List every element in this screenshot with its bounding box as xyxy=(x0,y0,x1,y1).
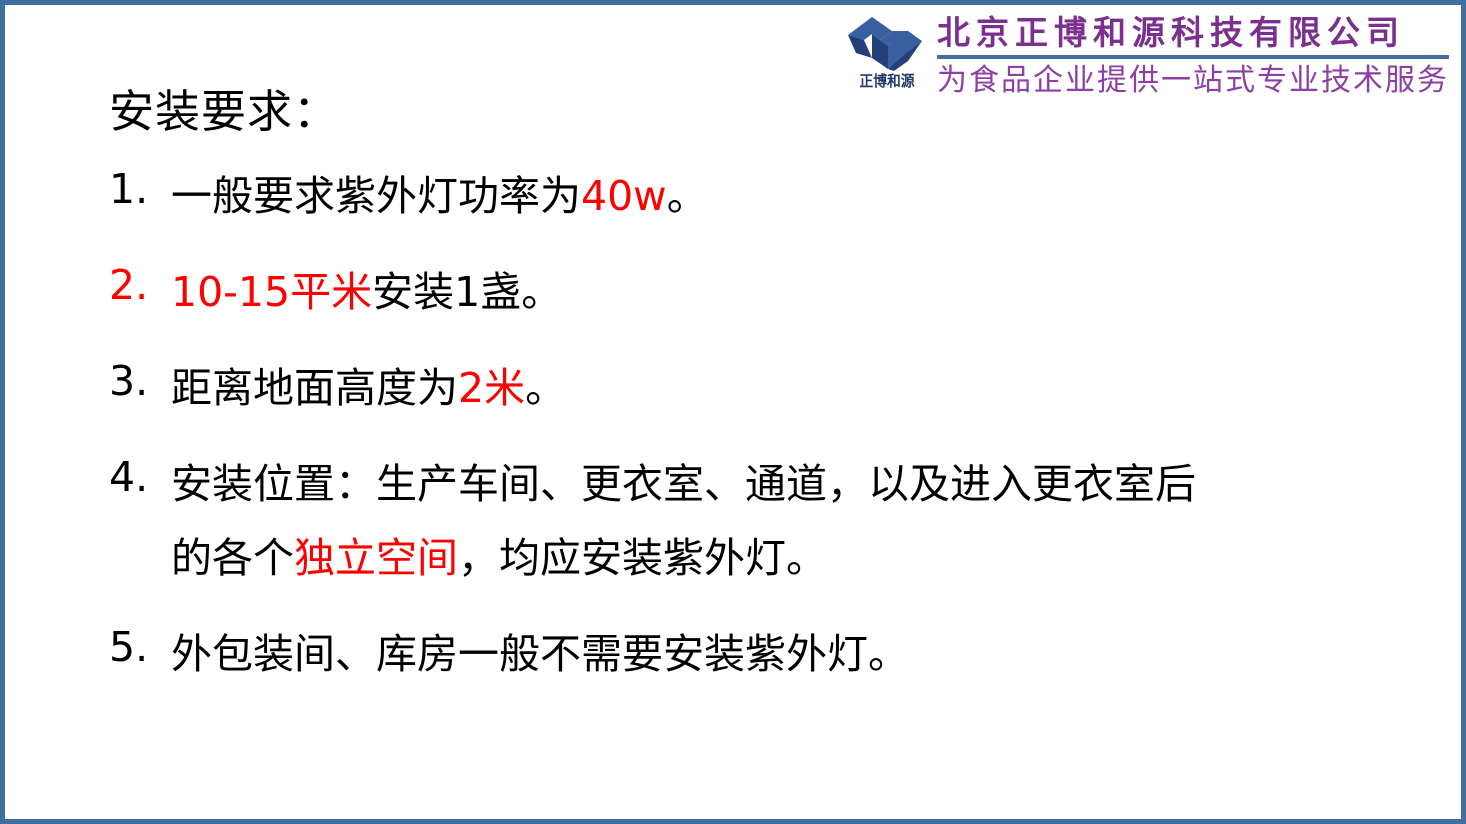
list-item-text: 一般要求紫外灯功率为40w。 xyxy=(171,159,1439,233)
slide-content: 安装要求： 1.一般要求紫外灯功率为40w。2.10-15平米安装1盏。3.距离… xyxy=(109,81,1439,713)
list-item-text: 10-15平米安装1盏。 xyxy=(171,255,1439,329)
list-item-line: 的各个独立空间，均应安装紫外灯。 xyxy=(171,521,1439,595)
list-item-number: 3. xyxy=(109,351,171,411)
list-item: 4.安装位置：生产车间、更衣室、通道，以及进入更衣室后的各个独立空间，均应安装紫… xyxy=(109,447,1439,595)
company-name: 北京正博和源科技有限公司 xyxy=(937,13,1449,53)
list-item-number: 5. xyxy=(109,617,171,677)
company-logo: 正博和源 xyxy=(841,9,933,89)
list-item: 3.距离地面高度为2米。 xyxy=(109,351,1439,425)
list-item-text: 外包装间、库房一般不需要安装紫外灯。 xyxy=(171,617,1439,691)
plain-text: 。 xyxy=(667,172,708,220)
plain-text: 的各个 xyxy=(171,534,294,582)
plain-text: 一般要求紫外灯功率为 xyxy=(171,172,581,220)
requirement-list: 1.一般要求紫外灯功率为40w。2.10-15平米安装1盏。3.距离地面高度为2… xyxy=(109,159,1439,691)
highlighted-text: 40w xyxy=(581,172,667,220)
list-item: 2.10-15平米安装1盏。 xyxy=(109,255,1439,329)
header-divider xyxy=(937,55,1449,59)
list-item-number: 4. xyxy=(109,447,171,507)
plain-text: 安装1盏。 xyxy=(372,268,562,316)
slide-canvas: 正博和源 北京正博和源科技有限公司 为食品企业提供一站式专业技术服务 安装要求：… xyxy=(0,0,1466,824)
highlighted-text: 独立空间 xyxy=(294,534,458,582)
plain-text: 外包装间、库房一般不需要安装紫外灯。 xyxy=(171,630,909,678)
plain-text: 距离地面高度为 xyxy=(171,364,458,412)
list-item-line: 距离地面高度为2米。 xyxy=(171,351,1439,425)
plain-text: ，均应安装紫外灯。 xyxy=(458,534,827,582)
list-item-line: 安装位置：生产车间、更衣室、通道，以及进入更衣室后 xyxy=(171,447,1439,521)
list-item-number: 1. xyxy=(109,159,171,219)
list-item-line: 一般要求紫外灯功率为40w。 xyxy=(171,159,1439,233)
list-item-text: 安装位置：生产车间、更衣室、通道，以及进入更衣室后的各个独立空间，均应安装紫外灯… xyxy=(171,447,1439,595)
plain-text: 。 xyxy=(525,364,566,412)
highlighted-text: 10-15平米 xyxy=(171,268,372,316)
list-item-line: 10-15平米安装1盏。 xyxy=(171,255,1439,329)
page-title: 安装要求： xyxy=(109,81,1439,143)
list-item: 1.一般要求紫外灯功率为40w。 xyxy=(109,159,1439,233)
highlighted-text: 2米 xyxy=(458,364,525,412)
list-item-number: 2. xyxy=(109,255,171,315)
list-item-line: 外包装间、库房一般不需要安装紫外灯。 xyxy=(171,617,1439,691)
company-z-logo-icon xyxy=(846,13,928,73)
list-item-text: 距离地面高度为2米。 xyxy=(171,351,1439,425)
list-item: 5.外包装间、库房一般不需要安装紫外灯。 xyxy=(109,617,1439,691)
plain-text: 安装位置：生产车间、更衣室、通道，以及进入更衣室后 xyxy=(171,460,1196,508)
